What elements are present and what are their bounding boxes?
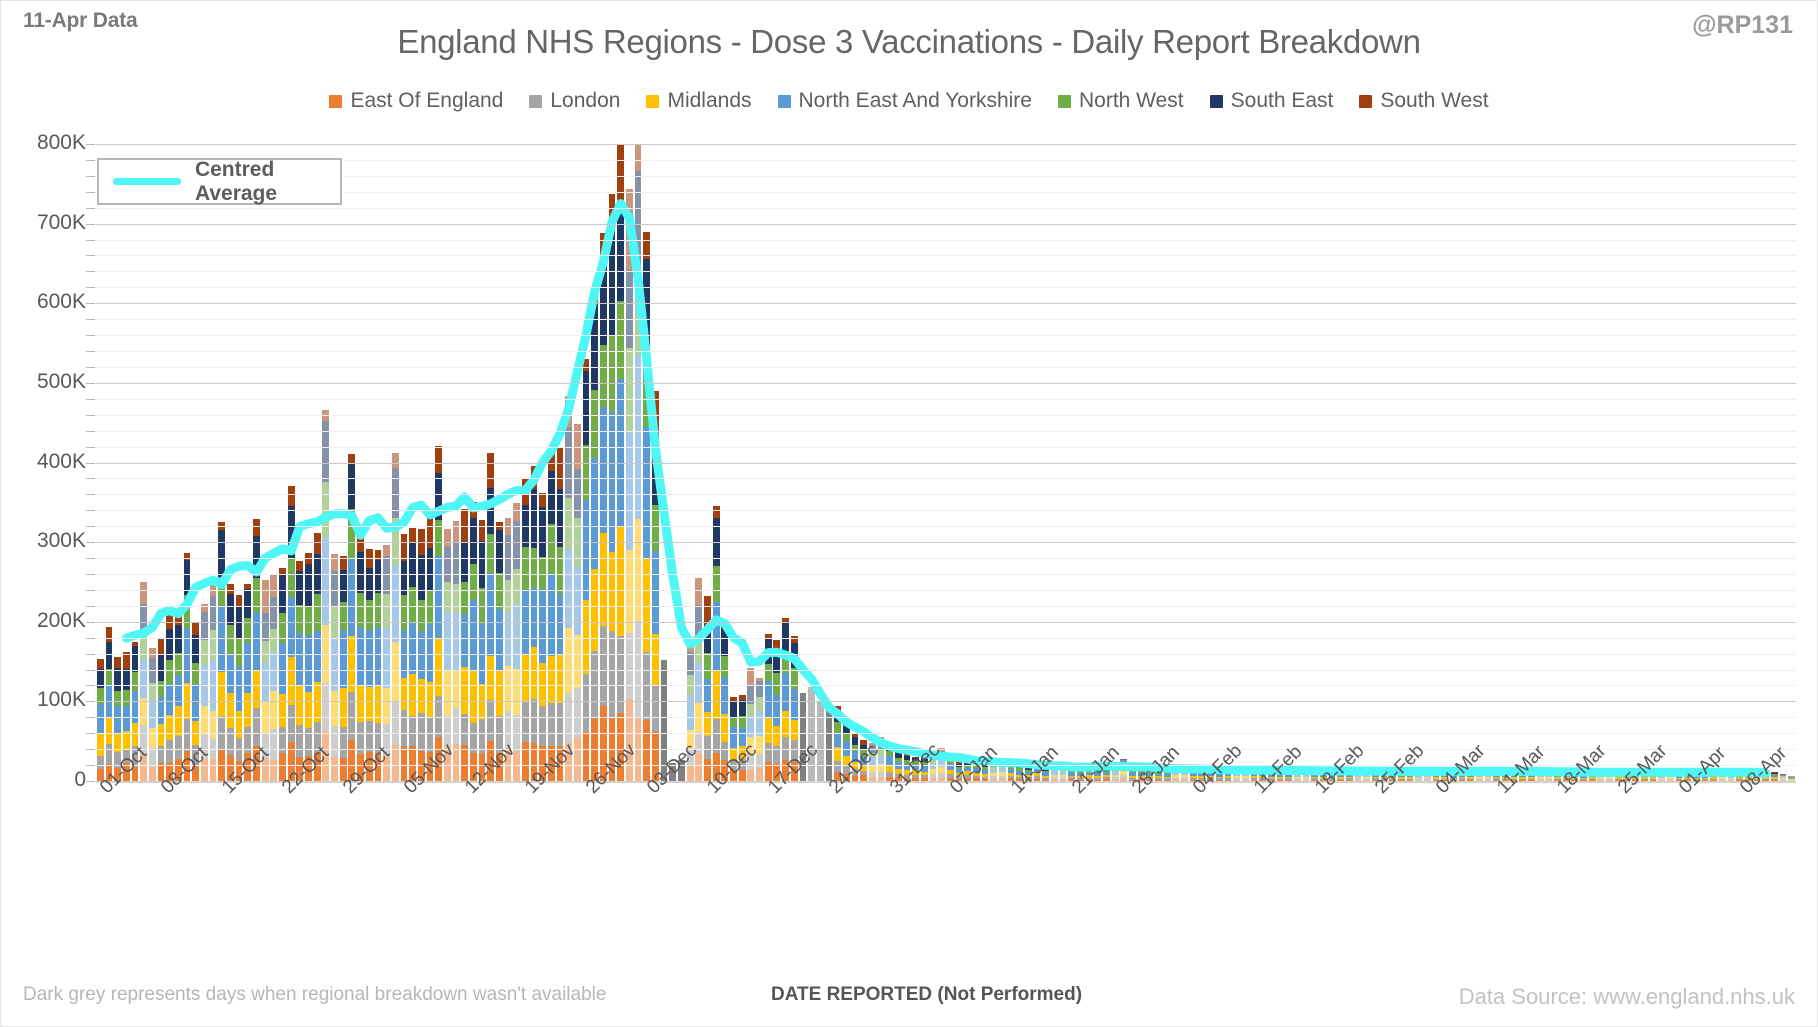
bar-segment-south-west [114,657,121,668]
bar-segment-london [1172,778,1179,780]
bar-segment-london [1294,779,1301,780]
bar-segment-south-west [747,668,754,686]
bar-segment-north-east-and-yorkshire [236,666,243,712]
bar-segment-north-west [591,390,598,458]
bar-segment-midlands [227,693,234,728]
bar-stack[interactable] [1355,771,1362,781]
bar-segment-midlands [305,692,312,728]
bar-segment-london [158,746,165,763]
bar-segment-east-of-england [643,720,650,781]
gridline-minor [96,351,1796,352]
bar-segment-north-east-and-yorkshire [1415,775,1422,777]
bar-stack[interactable] [704,596,711,781]
bar-segment-north-west [1363,773,1370,774]
legend-item-south-east[interactable]: South East [1210,89,1334,113]
centred-average-swatch [113,178,181,185]
bar-segment-north-west [713,566,720,602]
bar-segment-midlands [513,669,520,715]
bar-segment-north-east-and-yorkshire [1728,775,1735,777]
bar-segment-midlands [548,656,555,703]
y-axis-tick [86,399,95,400]
bar-stack[interactable] [1667,772,1674,781]
bar-stack[interactable] [392,453,399,781]
bar-segment-london [1363,779,1370,780]
gridline-minor [96,255,1796,256]
bar-segment-north-west [643,355,650,427]
y-axis-label: 200K [0,609,86,633]
bar-segment-north-west [1051,770,1058,772]
bar-segment-south-east [852,737,859,745]
bar-segment-midlands [1303,777,1310,779]
bar-segment-north-east-and-yorkshire [1667,776,1674,778]
bar-segment-south-west [1667,772,1674,773]
bar-segment-london [453,708,460,744]
bar-segment-north-east-and-yorkshire [505,613,512,667]
y-axis-tick [86,670,95,671]
bar-segment-midlands [1172,775,1179,777]
bar-stack[interactable] [1658,772,1665,781]
bar-stack[interactable] [1719,772,1726,781]
bar-segment-north-east-and-yorkshire [1172,773,1179,776]
bar-stack[interactable] [175,616,182,781]
bar-segment-north-east-and-yorkshire [1303,774,1310,777]
bar-segment-north-west [383,594,390,629]
y-axis-tick [86,240,95,241]
y-axis-tick [86,717,95,718]
gridline-minor [96,574,1796,575]
bar-segment-midlands [487,656,494,700]
bar-segment-midlands [990,773,997,776]
y-axis-tick [86,733,95,734]
bar-segment-midlands [496,671,503,716]
bar-segment-midlands [930,769,937,774]
bar-stack[interactable] [1537,771,1544,781]
bar-segment-south-west [210,580,217,597]
bar-stack[interactable] [470,502,477,781]
y-axis-tick [86,765,95,766]
gridline-minor [96,510,1796,511]
bar-segment-south-west [392,453,399,468]
bar-segment-south-west [704,596,711,624]
gridline-major [96,303,1796,304]
bar-stack[interactable] [609,194,616,781]
bar-segment-south-west [1545,772,1552,773]
bar-segment-south-west [106,627,113,642]
bar-segment-north-east-and-yorkshire [1363,775,1370,777]
bar-segment-north-west [158,681,165,697]
gridline-major [96,622,1796,623]
y-axis-label: 400K [0,450,86,474]
bar-segment-midlands [401,678,408,710]
bar-segment-north-west [210,630,217,659]
bar-segment-north-west [1719,774,1726,775]
bar-stack[interactable] [418,529,425,781]
bar-segment-south-west [756,678,763,681]
bar-stack[interactable] [1415,771,1422,781]
y-axis-tick [86,208,95,209]
bar-segment-south-east [453,542,460,584]
bar-segment-north-west [747,704,754,716]
bar-segment-north-west [1424,773,1431,774]
bar-segment-london [652,686,659,732]
bar-stack[interactable] [1728,772,1735,781]
y-axis-tick [86,478,95,479]
y-axis-tick [86,654,95,655]
bar-segment-north-west [1728,774,1735,775]
bar-stack[interactable] [1172,768,1179,781]
bar-segment-north-west [461,582,468,614]
bar-segment-south-east [1667,773,1674,775]
bar-segment-south-west [192,623,199,635]
bar-segment-midlands [1597,777,1604,778]
bar-segment-south-east [600,265,607,345]
bar-stack[interactable] [383,545,390,781]
bar-stack[interactable] [765,634,772,781]
bar-segment-south-east [210,596,217,630]
gridline-major [96,383,1796,384]
bar-stack[interactable] [435,446,442,781]
bar-segment-south-west [1233,770,1240,771]
bar-segment-south-east [175,625,182,653]
gridline-minor [96,447,1796,448]
bar-stack[interactable] [574,423,581,781]
bar-stack[interactable] [817,701,824,781]
bar-stack[interactable] [453,521,460,781]
bar-segment-london [322,683,329,731]
bar-segment-midlands [1294,777,1301,779]
bar-segment-north-west [296,605,303,633]
bar-segment-north-east-and-yorkshire [765,681,772,717]
bar-segment-south-east [331,571,338,606]
bar-segment-north-west [1233,773,1240,774]
bar-segment-london [765,743,772,762]
bar-segment-south-west [713,506,720,518]
bar-segment-south-west [1363,771,1370,772]
bar-stack[interactable] [149,648,156,781]
bar-segment-london [1667,779,1674,780]
bar-segment-north-east-and-yorkshire [574,567,581,634]
bar-segment-north-west [1597,775,1604,776]
bar-stack[interactable] [626,189,633,781]
y-axis-tick [86,463,95,464]
bar-segment-midlands [158,724,165,746]
bar-segment-london [288,705,295,742]
bar-stack[interactable] [184,553,191,781]
bar-segment-london [557,703,564,746]
bar-stack[interactable] [643,232,650,781]
bar-segment-london [106,744,113,764]
bar-segment-north-east-and-yorkshire [999,767,1006,772]
bar-stack[interactable] [97,659,104,781]
bar-segment-south-east [418,555,425,600]
bar-segment-north-east-and-yorkshire [296,633,303,686]
bar-segment-south-west [522,479,529,506]
bar-segment-north-west [192,663,199,684]
legend-item-east-of-england[interactable]: East Of England [329,89,503,113]
bar-segment-north-west [1415,774,1422,775]
y-axis-tick [86,351,95,352]
bar-segment-south-west [695,578,702,605]
bar-stack[interactable] [1181,767,1188,781]
bar-segment-midlands [392,642,399,703]
y-axis-label: 300K [0,529,86,553]
bar-segment-north-east-and-yorkshire [513,604,520,669]
bar-segment-london [461,714,468,745]
bar-stack[interactable] [218,522,225,781]
y-axis-tick [86,176,95,177]
bar-stack[interactable] [1294,771,1301,781]
bar-stack[interactable] [652,391,659,781]
bar-segment-south-east [366,568,373,600]
bar-segment-midlands [435,639,442,696]
bar-segment-south-west [635,144,642,171]
y-axis-label: 800K [0,131,86,155]
bar-segment-south-west [427,518,434,548]
gridline-minor [96,287,1796,288]
bar-stack[interactable] [331,554,338,781]
bar-segment-south-west [435,446,442,473]
y-axis-tick [86,510,95,511]
bar-stack[interactable] [366,549,373,781]
bar-segment-london [1597,779,1604,780]
bar-segment-midlands [1242,776,1249,778]
bar-segment-south-east [496,530,503,573]
bar-segment-south-west [296,561,303,571]
bar-segment-midlands [427,682,434,718]
legend-item-south-west[interactable]: South West [1359,89,1488,113]
bar-stack[interactable] [1606,772,1613,781]
bar-segment-north-east-and-yorkshire [331,639,338,691]
bar-segment-london [1415,779,1422,780]
bar-segment-south-east [1233,771,1240,773]
bar-segment-south-west [123,652,130,669]
bar-stack[interactable] [487,453,494,781]
bar-stack[interactable] [1233,770,1240,781]
y-axis-tick [86,144,95,145]
bar-stack[interactable] [1303,771,1310,781]
bar-segment-north-east-and-yorkshire [704,679,711,712]
gridline-minor [96,335,1796,336]
bar-segment-midlands [409,674,416,716]
bar-segment-east-of-england [392,745,399,781]
bar-stack[interactable] [1476,771,1483,781]
bar-segment-south-east [1719,773,1726,774]
bar-segment-north-west [704,653,711,678]
gridline-minor [96,717,1796,718]
bar-segment-london [1051,777,1058,779]
bar-segment-north-west [184,595,191,628]
bar-stack[interactable] [600,233,607,781]
bar-segment-south-west [1788,776,1795,777]
bar-segment-midlands [149,728,156,748]
bar-segment-north-west [652,505,659,551]
bar-segment-north-west [1485,774,1492,775]
bar-segment-london [1606,779,1613,780]
legend-label: London [550,89,620,113]
bar-stack[interactable] [401,534,408,781]
gridline-minor [96,431,1796,432]
bar-segment-midlands [1233,776,1240,778]
bar-segment-south-east [123,669,130,690]
bar-stack[interactable] [1424,771,1431,781]
bar-segment-north-west [600,345,607,407]
bar-segment-north-west [557,547,564,594]
legend-item-north-east-and-yorkshire[interactable]: North East And Yorkshire [778,89,1032,113]
y-axis-tick [86,224,95,225]
bar-stack[interactable] [158,639,165,781]
bar-stack[interactable] [1120,759,1127,781]
bar-segment-north-east-and-yorkshire [1788,778,1795,779]
bar-stack[interactable] [1597,772,1604,781]
bar-segment-midlands [244,693,251,727]
bar-segment-south-east [687,652,694,675]
bar-segment-south-west [513,503,520,521]
gridline-minor [96,367,1796,368]
bar-segment-south-east [106,642,113,669]
centred-average-legend: Centred Average [97,158,342,205]
bar-segment-north-east-and-yorkshire [496,609,503,672]
bar-stack[interactable] [305,552,312,781]
bar-stack[interactable] [1242,769,1249,781]
legend-swatch-icon [329,95,342,108]
bar-segment-north-east-and-yorkshire [470,600,477,671]
bar-segment-midlands [270,691,277,730]
bar-segment-south-west [609,194,616,230]
gridline-minor [96,192,1796,193]
bar-segment-london [930,774,937,778]
bar-stack[interactable] [565,396,572,781]
bar-stack[interactable] [106,627,113,781]
y-axis-tick [86,287,95,288]
bar-segment-midlands [1667,777,1674,779]
bar-stack[interactable] [1363,771,1370,781]
bar-stack[interactable] [461,509,468,781]
bar-segment-north-east-and-yorkshire [227,655,234,693]
bar-stack[interactable] [548,453,555,781]
bar-segment-london [1355,778,1362,779]
bar-segment-north-west [626,348,633,431]
bar-segment-south-west [565,396,572,427]
bar-segment-south-west [1415,772,1422,773]
bar-segment-north-west [427,591,434,624]
bar-segment-north-west [1181,771,1188,773]
bar-segment-north-west [270,629,277,653]
gridline-minor [96,208,1796,209]
bar-segment-north-east-and-yorkshire [1120,766,1127,771]
bar-stack[interactable] [1060,767,1067,781]
bar-segment-midlands [340,688,347,727]
bar-segment-east-of-england [747,770,754,781]
bar-segment-midlands [1780,778,1787,779]
gridline-minor [96,606,1796,607]
bar-stack[interactable] [557,447,564,781]
bar-segment-north-east-and-yorkshire [132,691,139,723]
legend-item-north-west[interactable]: North West [1058,89,1184,113]
bar-segment-south-west [687,644,694,652]
bar-segment-london [531,699,538,742]
bar-stack[interactable] [773,640,780,781]
bar-stack[interactable] [1545,771,1552,781]
x-axis-title: DATE REPORTED (Not Performed) [771,984,1082,1006]
bar-stack[interactable] [782,618,789,781]
bar-segment-south-west [409,528,416,543]
bar-segment-north-east-and-yorkshire [756,711,763,736]
bar-stack[interactable] [1485,771,1492,781]
bar-stack[interactable] [522,478,529,781]
bar-segment-south-east [479,541,486,588]
bar-segment-south-east [132,646,139,672]
bar-segment-south-east [557,489,564,548]
legend-swatch-icon [1210,95,1223,108]
bar-segment-north-east-and-yorkshire [1060,772,1067,776]
bar-segment-south-east [435,473,442,520]
bar-segment-south-west [1780,774,1787,775]
bar-segment-north-east-and-yorkshire [305,635,312,691]
plot-area: 0100K200K300K400K500K600K700K800K [96,144,1796,781]
bar-segment-south-east [444,547,451,581]
bar-stack[interactable] [826,711,833,781]
legend-item-midlands[interactable]: Midlands [646,89,751,113]
bar-stack[interactable] [999,760,1006,781]
bar-segment-north-west [444,582,451,613]
y-axis-tick [86,319,95,320]
bar-stack[interactable] [296,561,303,781]
gridline-minor [96,399,1796,400]
bar-segment-south-west [591,290,598,305]
bar-segment-north-west [548,524,555,574]
bar-segment-london [1424,778,1431,779]
bar-segment-north-east-and-yorkshire [1476,775,1483,777]
legend-item-london[interactable]: London [529,89,620,113]
bar-segment-south-east [721,628,728,656]
bar-stack[interactable] [591,290,598,781]
series-legend: East Of EnglandLondonMidlandsNorth East … [1,89,1817,113]
bar-stack[interactable] [513,503,520,781]
bar-segment-south-west [444,529,451,548]
bar-stack[interactable] [1780,774,1787,781]
bar-segment-south-east [1303,771,1310,773]
bar-segment-south-west [479,520,486,541]
bar-segment-north-east-and-yorkshire [114,706,121,734]
bar-segment-london [340,727,347,758]
bar-segment-north-west [175,653,182,675]
bar-segment-north-east-and-yorkshire [184,628,191,684]
bar-stack[interactable] [348,454,355,781]
bar-segment-south-east [201,612,208,641]
bar-segment-london [227,728,234,755]
bar-segment-north-east-and-yorkshire [1485,775,1492,777]
bar-segment-midlands [201,706,208,734]
bar-stack[interactable] [210,580,217,781]
bar-segment-east-of-england [756,768,763,781]
y-axis-tick [86,367,95,368]
bar-stack[interactable] [713,506,720,781]
bar-segment-london [548,703,555,746]
bar-segment-south-east [1424,772,1431,773]
bar-stack[interactable] [288,486,295,781]
bar-segment-london [1181,777,1188,779]
bar-segment-midlands [470,671,477,723]
bar-segment-north-west [1667,774,1674,775]
y-axis-tick [86,574,95,575]
bar-segment-north-west [531,548,538,588]
bar-stack[interactable] [322,410,329,781]
y-axis-tick [86,558,95,559]
bar-segment-midlands [1476,777,1483,779]
bar-stack[interactable] [227,584,234,781]
bar-segment-north-east-and-yorkshire [548,574,555,655]
bar-segment-south-east [513,521,520,569]
